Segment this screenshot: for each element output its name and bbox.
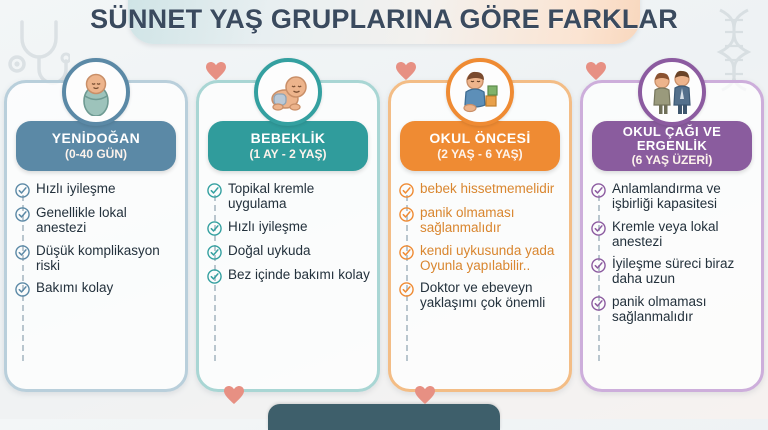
list-item[interactable]: Hızlı iyileşme <box>207 219 371 236</box>
age-group-card-okul-cagi[interactable]: OKUL ÇAĞI VE ERGENLİK(6 YAŞ ÜZERİ)Anlaml… <box>580 58 764 398</box>
heart-icon <box>206 62 226 81</box>
heart-icon <box>586 62 606 81</box>
check-circle-icon <box>591 183 606 198</box>
list-item-label: Doğal uykuda <box>228 243 311 258</box>
check-circle-icon <box>399 207 414 222</box>
check-circle-icon <box>591 296 606 311</box>
card-subtitle-bebeklik: (1 AY - 2 YAŞ) <box>250 147 327 161</box>
check-circle-icon <box>399 183 414 198</box>
list-item[interactable]: Doktor ve ebeveyn yaklaşımı çok önemli <box>399 280 563 311</box>
check-circle-icon <box>207 269 222 284</box>
heart-icon <box>224 386 244 405</box>
child-and-teen-icon <box>638 58 706 126</box>
check-circle-icon <box>15 282 30 297</box>
list-item-label: Doktor ve ebeveyn yaklaşımı çok önemli <box>420 280 563 311</box>
list-item-label: Genellikle lokal anestezi <box>36 205 179 236</box>
list-item-label: kendi uykusunda yada Oyunla yapılabilir.… <box>420 243 563 274</box>
list-item-label: bebek hissetmemelidir <box>420 181 554 196</box>
list-item[interactable]: Genellikle lokal anestezi <box>15 205 179 236</box>
feature-list-okul-cagi: Anlamlandırma ve işbirliği kapasitesiKre… <box>591 181 755 385</box>
card-title-okul-oncesi: OKUL ÖNCESİ <box>429 131 530 146</box>
age-group-card-okul-oncesi[interactable]: OKUL ÖNCESİ(2 YAŞ - 6 YAŞ)bebek hissetme… <box>388 58 572 398</box>
list-item[interactable]: panik olmaması sağlanmalıdır <box>591 294 755 325</box>
list-item[interactable]: Hızlı iyileşme <box>15 181 179 198</box>
card-header-yenidogan: YENİDOĞAN(0-40 GÜN) <box>16 121 176 171</box>
list-item[interactable]: İyileşme süreci biraz daha uzun <box>591 256 755 287</box>
list-item-label: Anlamlandırma ve işbirliği kapasitesi <box>612 181 755 212</box>
feature-list-okul-oncesi: bebek hissetmemelidirpanik olmaması sağl… <box>399 181 563 385</box>
list-item-label: Bez içinde bakımı kolay <box>228 267 370 282</box>
list-item-label: İyileşme süreci biraz daha uzun <box>612 256 755 287</box>
list-item-label: Düşük komplikasyon riski <box>36 243 179 274</box>
list-item-label: panik olmaması sağlanmalıdır <box>420 205 563 236</box>
check-circle-icon <box>15 245 30 260</box>
list-item[interactable]: Topikal kremle uygulama <box>207 181 371 212</box>
list-item[interactable]: Kremle veya lokal anestezi <box>591 219 755 250</box>
card-body-bebeklik: BEBEKLİK(1 AY - 2 YAŞ)Topikal kremle uyg… <box>196 80 380 392</box>
list-item-label: Topikal kremle uygulama <box>228 181 371 212</box>
check-circle-icon <box>15 183 30 198</box>
card-header-okul-oncesi: OKUL ÖNCESİ(2 YAŞ - 6 YAŞ) <box>400 121 560 171</box>
list-item-label: Bakımı kolay <box>36 280 113 295</box>
list-item[interactable]: bebek hissetmemelidir <box>399 181 563 198</box>
card-title-okul-cagi: OKUL ÇAĞI VE ERGENLİK <box>592 125 752 153</box>
check-circle-icon <box>399 282 414 297</box>
list-item[interactable]: Anlamlandırma ve işbirliği kapasitesi <box>591 181 755 212</box>
list-item[interactable]: Bakımı kolay <box>15 280 179 297</box>
check-circle-icon <box>591 221 606 236</box>
card-body-yenidogan: YENİDOĞAN(0-40 GÜN)Hızlı iyileşmeGenelli… <box>4 80 188 392</box>
card-body-okul-oncesi: OKUL ÖNCESİ(2 YAŞ - 6 YAŞ)bebek hissetme… <box>388 80 572 392</box>
card-subtitle-okul-oncesi: (2 YAŞ - 6 YAŞ) <box>437 147 522 161</box>
age-group-cards: YENİDOĞAN(0-40 GÜN)Hızlı iyileşmeGenelli… <box>0 58 768 398</box>
card-subtitle-yenidogan: (0-40 GÜN) <box>65 147 127 161</box>
feature-list-bebeklik: Topikal kremle uygulamaHızlı iyileşmeDoğ… <box>207 181 371 385</box>
bottom-bar <box>268 404 500 430</box>
list-item-label: Hızlı iyileşme <box>36 181 116 196</box>
list-item[interactable]: Doğal uykuda <box>207 243 371 260</box>
list-item[interactable]: panik olmaması sağlanmalıdır <box>399 205 563 236</box>
list-item[interactable]: Bez içinde bakımı kolay <box>207 267 371 284</box>
check-circle-icon <box>399 245 414 260</box>
card-title-yenidogan: YENİDOĞAN <box>52 131 140 146</box>
card-title-bebeklik: BEBEKLİK <box>251 131 326 146</box>
list-item-label: panik olmaması sağlanmalıdır <box>612 294 755 325</box>
feature-list-yenidogan: Hızlı iyileşmeGenellikle lokal anesteziD… <box>15 181 179 385</box>
age-group-card-bebeklik[interactable]: BEBEKLİK(1 AY - 2 YAŞ)Topikal kremle uyg… <box>196 58 380 398</box>
heart-icon <box>396 62 416 81</box>
swaddled-newborn-icon <box>62 58 130 126</box>
list-item[interactable]: kendi uykusunda yada Oyunla yapılabilir.… <box>399 243 563 274</box>
check-circle-icon <box>207 183 222 198</box>
list-item-label: Hızlı iyileşme <box>228 219 308 234</box>
check-circle-icon <box>207 245 222 260</box>
crawling-baby-icon <box>254 58 322 126</box>
check-circle-icon <box>207 221 222 236</box>
check-circle-icon <box>591 258 606 273</box>
card-header-okul-cagi: OKUL ÇAĞI VE ERGENLİK(6 YAŞ ÜZERİ) <box>592 121 752 171</box>
list-item-label: Kremle veya lokal anestezi <box>612 219 755 250</box>
card-subtitle-okul-cagi: (6 YAŞ ÜZERİ) <box>632 153 713 167</box>
list-item[interactable]: Düşük komplikasyon riski <box>15 243 179 274</box>
toddler-blocks-icon <box>446 58 514 126</box>
age-group-card-yenidogan[interactable]: YENİDOĞAN(0-40 GÜN)Hızlı iyileşmeGenelli… <box>4 58 188 398</box>
heart-icon <box>415 386 435 405</box>
page-title: SÜNNET YAŞ GRUPLARINA GÖRE FARKLAR <box>90 4 678 44</box>
card-header-bebeklik: BEBEKLİK(1 AY - 2 YAŞ) <box>208 121 368 171</box>
card-body-okul-cagi: OKUL ÇAĞI VE ERGENLİK(6 YAŞ ÜZERİ)Anlaml… <box>580 80 764 392</box>
check-circle-icon <box>15 207 30 222</box>
title-banner: SÜNNET YAŞ GRUPLARINA GÖRE FARKLAR <box>128 0 640 44</box>
